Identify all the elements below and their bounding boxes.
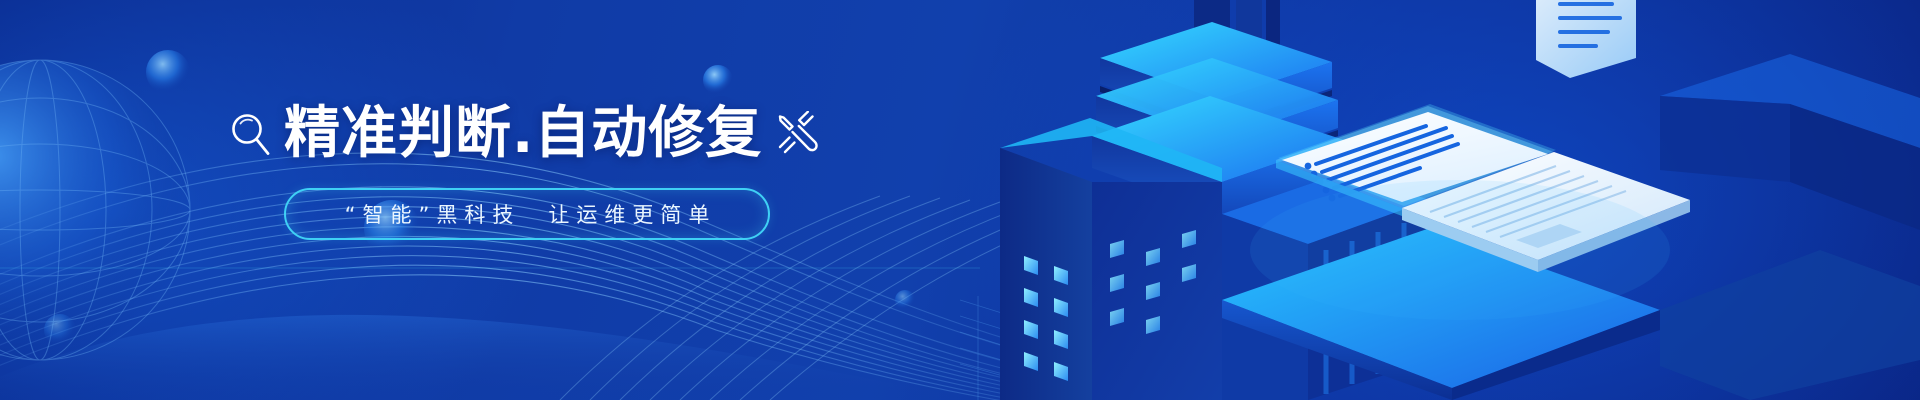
page-title: 精准判断.自动修复 (284, 103, 762, 165)
glow-orb (703, 65, 733, 95)
banner-copy: 精准判断.自动修复 “智能”黑科技 让运维更简单 (228, 96, 848, 306)
headline-row: 精准判断.自动修复 (228, 96, 848, 172)
isometric-illustration (960, 0, 1920, 400)
subtitle-text: “智能”黑科技 让运维更简单 (338, 199, 717, 229)
glow-orb (146, 50, 190, 94)
promo-banner: 精准判断.自动修复 “智能”黑科技 让运维更简单 (0, 0, 1920, 400)
magnifier-icon (228, 111, 272, 157)
glow-orb (44, 314, 76, 346)
subtitle-pill: “智能”黑科技 让运维更简单 (284, 188, 770, 240)
glow-orb (895, 290, 915, 310)
right-edge-blocks (1660, 54, 1920, 400)
wrench-icon (774, 111, 820, 157)
document-card (1536, 0, 1636, 78)
